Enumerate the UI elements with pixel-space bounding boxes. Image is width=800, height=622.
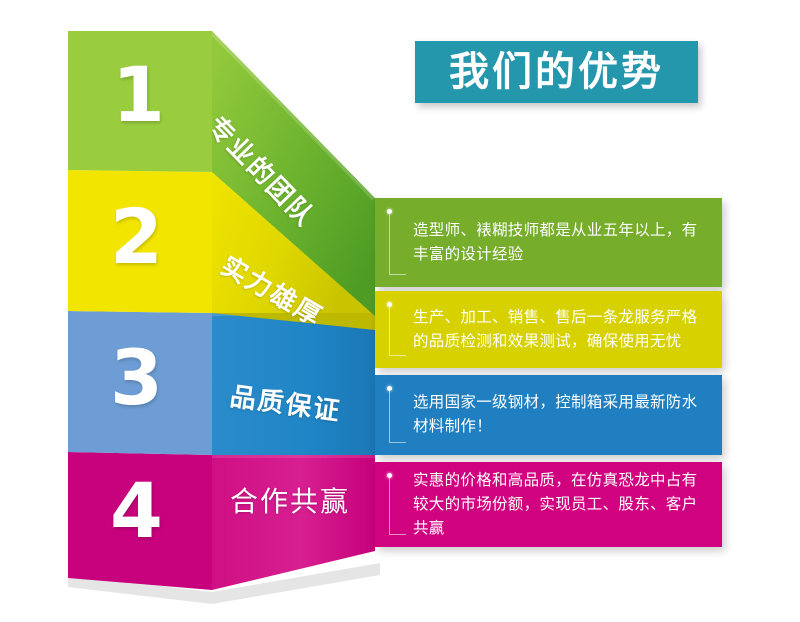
infographic-canvas: 我们的优势 bbox=[0, 0, 800, 622]
accent-bracket-icon bbox=[389, 212, 406, 275]
description-text-4: 实惠的价格和高品质，在仿真恐龙中占有较大的市场份额，实现员工、股东、客户共赢 bbox=[413, 468, 700, 540]
description-box-3: 选用国家一级钢材，控制箱采用最新防水材料制作！ bbox=[375, 375, 722, 455]
description-box-1: 造型师、裱糊技师都是从业五年以上，有丰富的设计经验 bbox=[375, 198, 722, 287]
band-number-4: 4 bbox=[110, 473, 163, 549]
description-text-2: 生产、加工、销售、售后一条龙服务严格的品质检测和效果测试，确保使用无忧 bbox=[413, 305, 700, 353]
band-number-1: 1 bbox=[112, 57, 165, 133]
accent-dot-icon bbox=[387, 209, 392, 214]
accent-bracket-icon bbox=[389, 476, 406, 535]
band-number-2: 2 bbox=[110, 199, 163, 275]
description-box-2: 生产、加工、销售、售后一条龙服务严格的品质检测和效果测试，确保使用无忧 bbox=[375, 291, 722, 368]
band-number-3: 3 bbox=[110, 340, 163, 416]
accent-bracket-icon bbox=[389, 389, 406, 443]
accent-bracket-icon bbox=[389, 305, 406, 356]
description-text-3: 选用国家一级钢材，控制箱采用最新防水材料制作！ bbox=[413, 391, 700, 439]
band-caption-4: 合作共赢 bbox=[230, 488, 350, 516]
description-text-1: 造型师、裱糊技师都是从业五年以上，有丰富的设计经验 bbox=[413, 218, 700, 266]
accent-dot-icon bbox=[387, 473, 392, 478]
accent-dot-icon bbox=[387, 386, 392, 391]
description-box-4: 实惠的价格和高品质，在仿真恐龙中占有较大的市场份额，实现员工、股东、客户共赢 bbox=[375, 462, 722, 547]
accent-dot-icon bbox=[387, 302, 392, 307]
